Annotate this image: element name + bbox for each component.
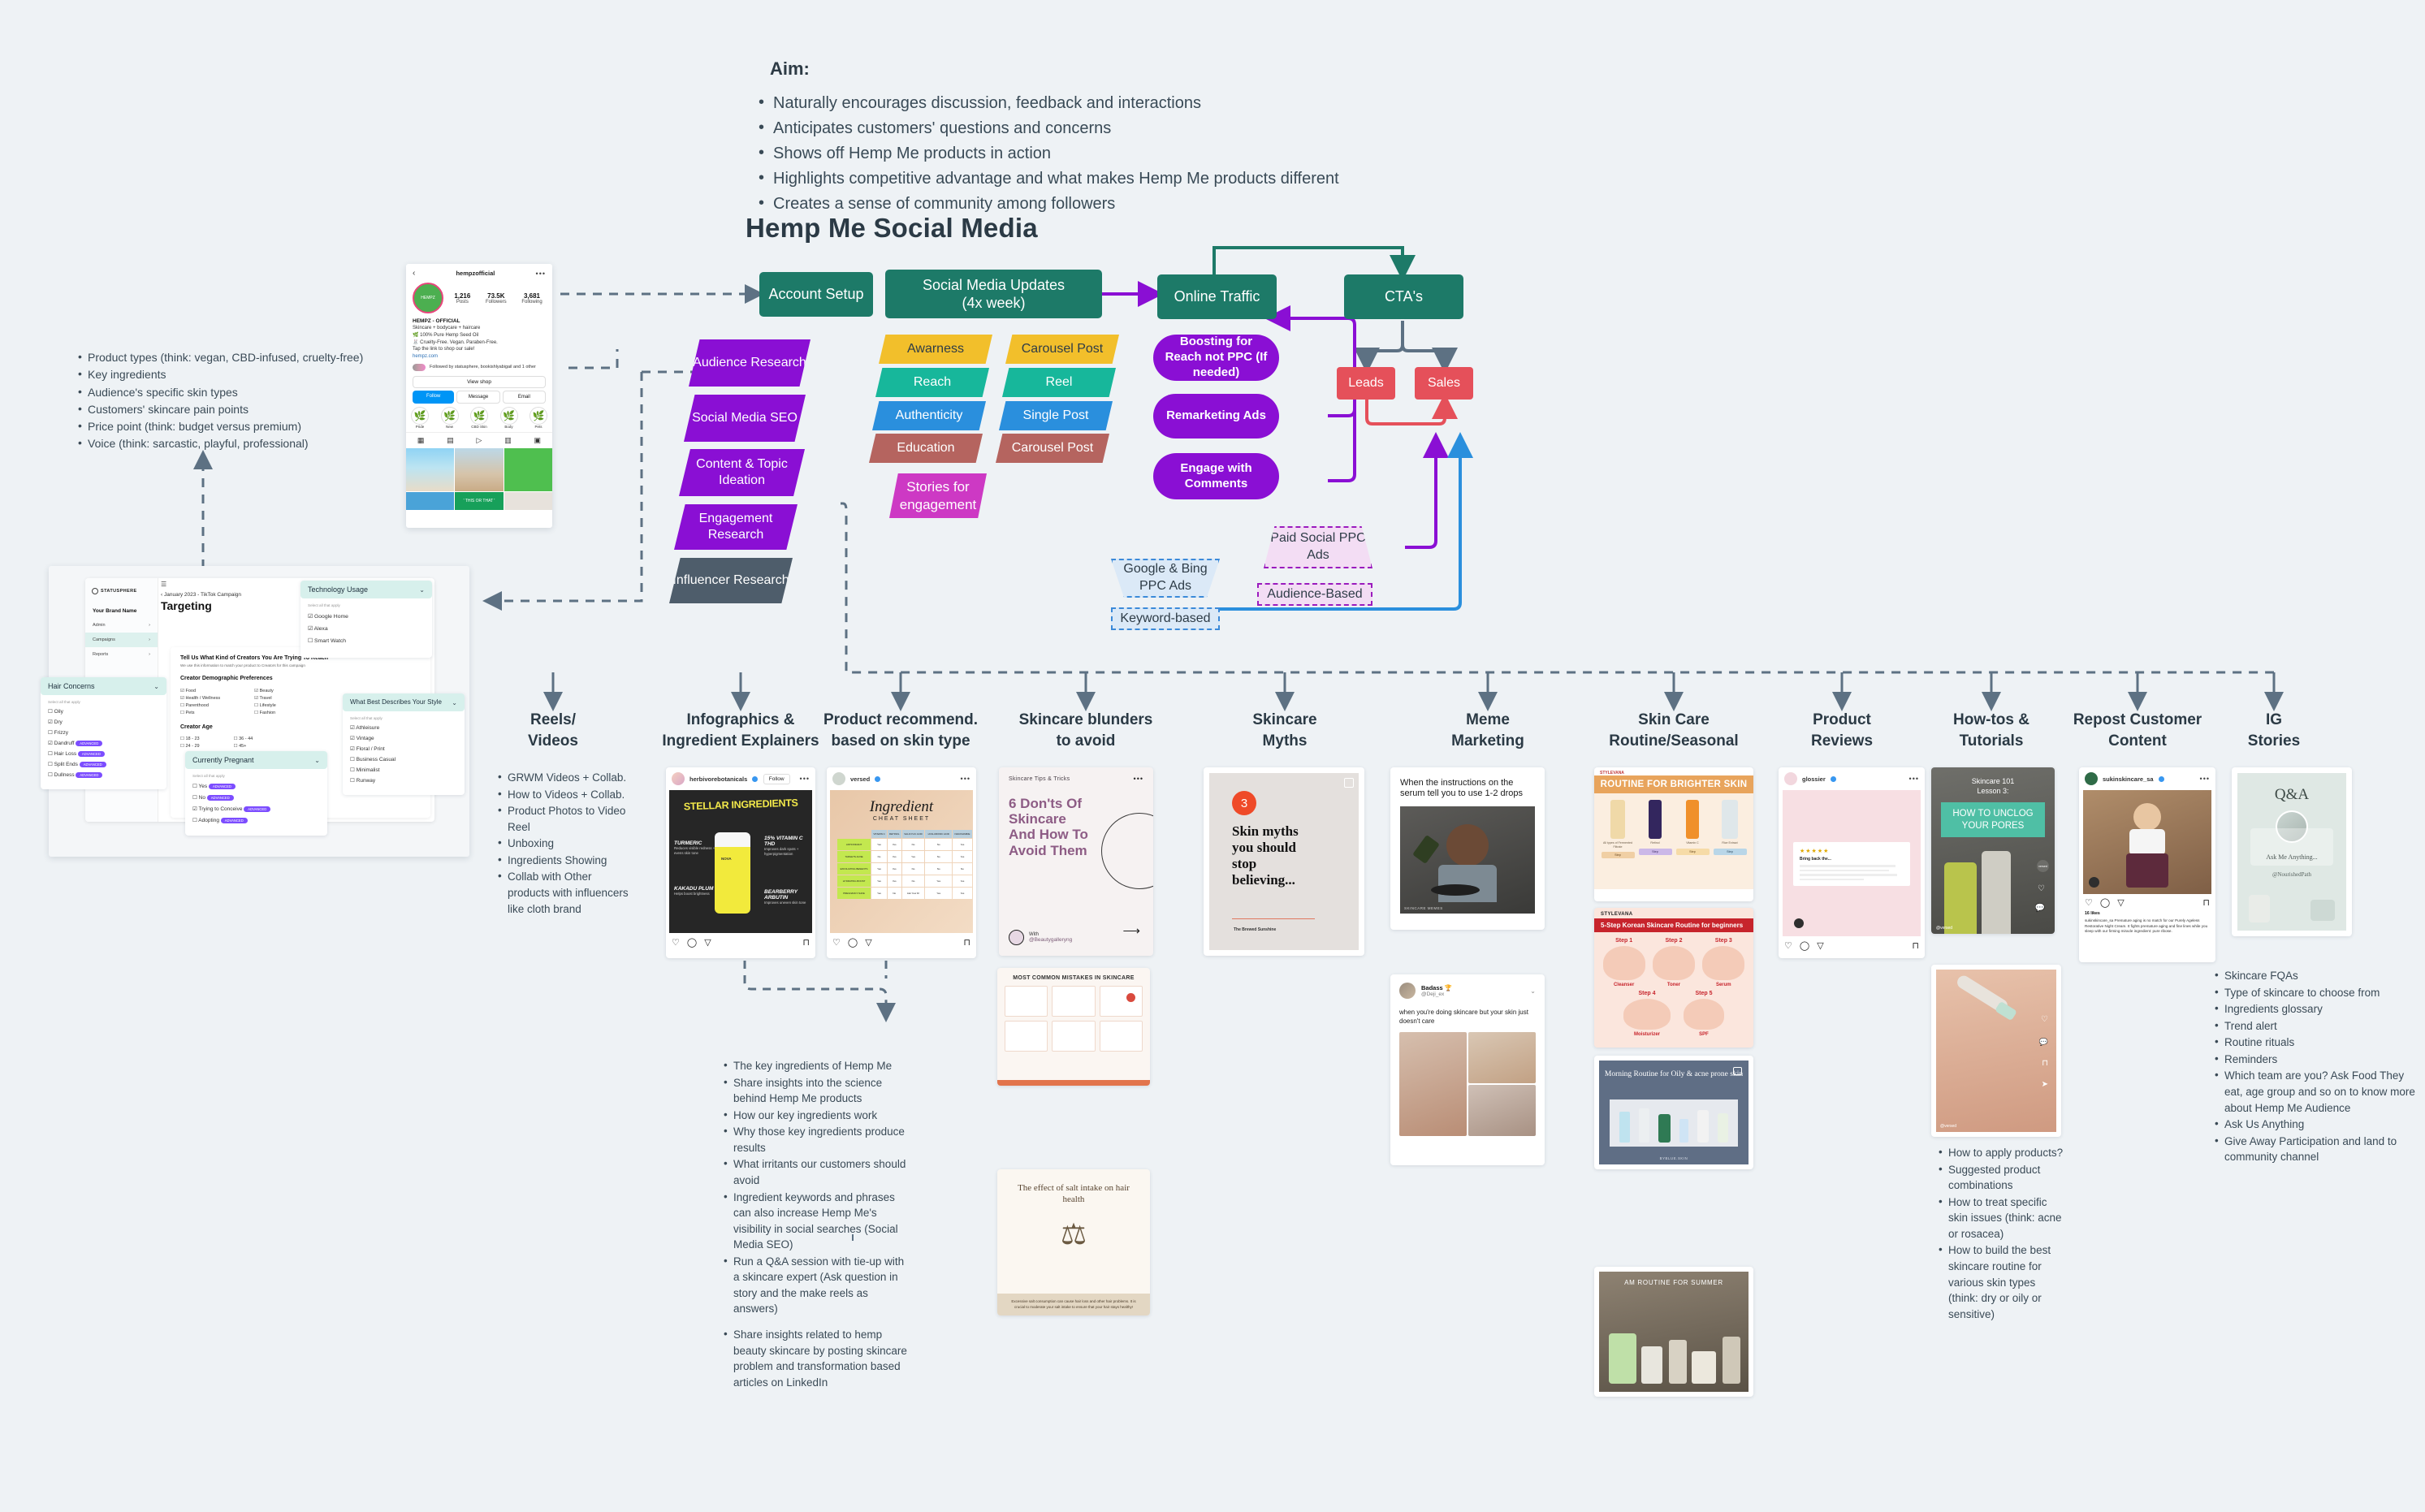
card-meme-tweet[interactable]: Badass 🏆 @Deji_ex ⌄ when you're doing sk… — [1390, 974, 1545, 1165]
tile — [1100, 1021, 1143, 1052]
story-prompt[interactable]: Ask Me Anything... — [2266, 853, 2317, 861]
dropdown-hair-concerns[interactable]: Hair Concerns ⌄ Select all that apply ☐ … — [41, 677, 166, 789]
account-name[interactable]: versed — [850, 775, 870, 783]
node-online-traffic[interactable]: Online Traffic — [1157, 274, 1277, 319]
option-vintage[interactable]: ☑ Vintage — [350, 735, 457, 741]
list-item: Give Away Participation and land to comm… — [2214, 1134, 2423, 1165]
more-options-icon[interactable]: ••• — [2200, 775, 2210, 783]
post-title: 5-Step Korean Skincare Routine for begin… — [1594, 918, 1753, 932]
sidebar-item-campaigns[interactable]: Campaigns› — [85, 633, 158, 647]
share-icon[interactable]: ▽ — [1817, 940, 1823, 951]
tagged-icon[interactable]: ▣ — [534, 436, 542, 445]
node-leads[interactable]: Leads — [1337, 367, 1395, 400]
list-item: Collab with Other products with influenc… — [497, 869, 631, 917]
chevron-down-icon[interactable]: ⌄ — [153, 683, 159, 690]
comment-icon[interactable]: ◯ — [848, 937, 858, 948]
section-subtitle: We use this information to match your pr… — [180, 663, 421, 667]
stat-followers: 73.5K Followers — [486, 292, 507, 305]
howto-bullet-list: How to apply products? Suggested product… — [1938, 1145, 2068, 1323]
post-image: Ingredient CHEAT SHEET VITAMIN C RETINOL… — [830, 790, 973, 933]
checkbox-parenthood[interactable]: ☐ Parenthood — [180, 703, 220, 708]
column-header-infographics: Infographics & Ingredient Explainers — [651, 710, 830, 751]
list-item: How our key ingredients work — [723, 1108, 908, 1124]
avatar — [672, 772, 685, 785]
column-header-meme-marketing: Meme Marketing — [1415, 710, 1561, 751]
tile — [1052, 1021, 1095, 1052]
avatar — [2085, 772, 2098, 785]
list-item: Voice (think: sarcastic, playful, profes… — [77, 435, 402, 451]
post-title: The effect of salt intake on hair health — [997, 1169, 1150, 1206]
card-morning-routine-oily[interactable]: Morning Routine for Oily & acne prone sk… — [1594, 1056, 1753, 1169]
review-headline: Bring back the... — [1800, 857, 1904, 862]
list-item: Audience's specific skin types — [77, 384, 402, 400]
card-common-mistakes[interactable]: MOST COMMON MISTAKES IN SKINCARE — [997, 968, 1150, 1086]
node-sales[interactable]: Sales — [1415, 367, 1473, 400]
verified-icon — [875, 776, 880, 782]
post-title: 6 Don'ts Of Skincare And How To Avoid Th… — [999, 783, 1103, 858]
more-options-icon[interactable]: ••• — [536, 270, 546, 278]
node-engage-with-comments[interactable]: Engage with Comments — [1153, 453, 1279, 499]
node-paid-social-ppc[interactable]: Paid Social PPC Ads — [1264, 526, 1372, 568]
like-icon[interactable]: ♡ — [1784, 940, 1792, 951]
option-split-ends[interactable]: ☐ Split Ends ADVANCED — [48, 761, 159, 767]
tag-authenticity[interactable]: Authenticity — [872, 401, 986, 430]
avatar — [1784, 772, 1797, 785]
option-smart-watch[interactable]: ☐ Smart Watch — [308, 637, 425, 644]
option-minimalist[interactable]: ☐ Minimalist — [350, 767, 457, 773]
column-header-how-tos: How-tos & Tutorials — [1918, 710, 2064, 751]
reels-bullet-list: GRWM Videos + Collab. How to Videos + Co… — [497, 770, 631, 918]
node-boosting-for-reach[interactable]: Boosting for Reach not PPC (If needed) — [1153, 335, 1279, 381]
post-title: Morning Routine for Oily & acne prone sk… — [1599, 1061, 1749, 1080]
node-engagement-research[interactable]: Engagement Research — [674, 504, 798, 550]
checkbox-health[interactable]: ☑ Health / Wellness — [180, 696, 220, 701]
node-keyword-based[interactable]: Keyword-based — [1111, 607, 1220, 630]
checkbox-fashion[interactable]: ☐ Fashion — [254, 711, 276, 715]
option-business-casual[interactable]: ☐ Business Casual — [350, 756, 457, 762]
option-floral-print[interactable]: ☑ Floral / Print — [350, 745, 457, 752]
option-dullness[interactable]: ☐ Dullness ADVANCED — [48, 771, 159, 778]
column-header-skincare-myths: Skincare Myths — [1212, 710, 1358, 751]
highlight-pets[interactable]: 🌿Pets — [530, 407, 547, 429]
list-item: Price point (think: budget versus premiu… — [77, 418, 402, 434]
tag-single-post[interactable]: Single Post — [999, 401, 1113, 430]
tag-carousel-post-2[interactable]: Carousel Post — [996, 434, 1109, 463]
column-header-repost-customer: Repost Customer Content — [2048, 710, 2227, 751]
tile — [1005, 986, 1048, 1017]
stories-bullet-list: Skincare FQAs Type of skincare to choose… — [2214, 968, 2423, 1166]
story-handle: @NourishedPath — [2237, 871, 2346, 878]
list-item: How to Videos + Collab. — [497, 787, 631, 803]
meme-image — [1468, 1085, 1536, 1136]
tweet-author: Badass 🏆 — [1421, 984, 1452, 991]
source: The Brewed Sunshine — [1234, 927, 1276, 932]
account-name[interactable]: glossier — [1802, 775, 1826, 783]
sidebar-item-admin[interactable]: Admin› — [85, 618, 158, 633]
list-item: Ingredient keywords and phrases can also… — [723, 1190, 908, 1253]
node-stories-for-engagement[interactable]: Stories for engagement — [889, 473, 987, 518]
node-account-setup[interactable]: Account Setup — [759, 272, 873, 317]
grid-tile[interactable] — [504, 448, 552, 491]
more-options-icon[interactable]: ••• — [1134, 775, 1143, 783]
option-dry[interactable]: ☑ Dry — [48, 719, 159, 725]
share-icon[interactable]: ▽ — [2117, 897, 2124, 908]
card-5-step-korean[interactable]: STYLEVANA 5-Step Korean Skincare Routine… — [1594, 908, 1753, 1048]
column-header-product-reviews: Product Reviews — [1769, 710, 1915, 751]
followed-by-text: Followed by statusphere, bookishlyabigai… — [430, 365, 536, 370]
dropdown-technology-usage[interactable]: Technology Usage ⌄ Select all that apply… — [300, 581, 432, 658]
node-audience-research[interactable]: Audience Research — [689, 339, 810, 387]
verified-icon — [2159, 776, 2164, 782]
reels-icon[interactable]: ▤ — [447, 436, 454, 445]
bio-link[interactable]: hempz.com — [413, 353, 546, 361]
checkbox-age-36-44[interactable]: ☐ 36 - 44 — [234, 737, 253, 741]
tag-awarness[interactable]: Awarness — [879, 335, 992, 364]
option-google-home[interactable]: ☑ Google Home — [308, 613, 425, 620]
list-item: Run a Q&A session with tie-up with a ski… — [723, 1254, 908, 1317]
node-ctas[interactable]: CTA's — [1344, 274, 1463, 319]
list-item: Ingredients Showing — [497, 853, 631, 869]
post-image: STELLAR INGREDIENTS NOVA TURMERIC Reduce… — [669, 790, 812, 933]
meme-image — [1399, 1032, 1467, 1136]
card-how-to-unclog[interactable]: Skincare 101 Lesson 3: HOW TO UNCLOG YOU… — [1931, 767, 2055, 934]
aim-bullet-list: Naturally encourages discussion, feedbac… — [755, 91, 1567, 217]
chevron-right-icon: › — [149, 623, 150, 628]
grid-tile[interactable] — [455, 448, 503, 491]
tag-reach[interactable]: Reach — [875, 368, 989, 397]
list-item: Type of skincare to choose from — [2214, 985, 2423, 1001]
option-oily[interactable]: ☐ Oily — [48, 708, 159, 715]
verified-icon — [1831, 776, 1836, 782]
list-item: How to apply products? — [1938, 1145, 2068, 1161]
like-icon[interactable]: ♡ — [2085, 897, 2093, 908]
list-item: Why those key ingredients produce result… — [723, 1124, 908, 1156]
guides-icon[interactable]: ▥ — [504, 436, 512, 445]
list-item: The key ingredients of Hemp Me — [723, 1058, 908, 1074]
column-header-skincare-blunders: Skincare blunders to avoid — [996, 710, 1175, 751]
follow-button[interactable]: Follow — [763, 774, 790, 784]
dropdown-style[interactable]: What Best Describes Your Style ⌄ Select … — [343, 693, 465, 795]
highlight-cbd-skin[interactable]: 🌿CBD Skin — [470, 407, 488, 429]
whiteboard-canvas: Aim: Naturally encourages discussion, fe… — [0, 0, 2425, 1512]
caption: sukinskincare_sa Premature aging is no m… — [2079, 916, 2215, 937]
chevron-down-icon[interactable]: ⌄ — [314, 757, 320, 764]
video-icon[interactable]: ▷ — [477, 436, 482, 445]
node-audience-based[interactable]: Audience-Based — [1257, 583, 1372, 606]
list-item: Customers' skincare pain points — [77, 401, 402, 417]
card-am-routine-summer[interactable]: AM ROUTINE FOR SUMMER — [1594, 1267, 1753, 1397]
save-icon[interactable]: ⊓ — [1912, 940, 1919, 951]
list-item: GRWM Videos + Collab. — [497, 770, 631, 786]
chevron-right-icon: › — [149, 637, 150, 642]
checkbox-travel[interactable]: ☑ Travel — [254, 696, 276, 701]
chevron-down-icon[interactable]: ⌄ — [1530, 987, 1536, 995]
card-qa-story[interactable]: Q&A Ask Me Anything... @NourishedPath — [2232, 767, 2352, 936]
list-item: Routine rituals — [2214, 1035, 2423, 1051]
tweet-text: when you're doing skincare but your skin… — [1390, 1003, 1545, 1032]
checkbox-age-24-29[interactable]: ☐ 24 - 29 — [180, 744, 200, 749]
aim-bullet: Naturally encourages discussion, feedbac… — [755, 91, 1567, 116]
card-salt-intake[interactable]: The effect of salt intake on hair health… — [997, 1169, 1150, 1315]
lesson: Lesson 3: — [1931, 786, 2055, 796]
column-header-skincare-routine: Skin Care Routine/Seasonal — [1580, 710, 1767, 751]
meme-image: SKINCARE MEMES — [1400, 806, 1535, 914]
more-options-icon[interactable]: ••• — [1909, 775, 1919, 783]
checkbox-beauty[interactable]: ☑ Beauty — [254, 689, 276, 693]
checkbox-age-18-23[interactable]: ☐ 18 - 23 — [180, 737, 200, 741]
grid-tile[interactable] — [504, 492, 552, 510]
aim-bullet: Highlights competitive advantage and wha… — [755, 166, 1567, 192]
list-item: Skincare FQAs — [2214, 968, 2423, 984]
option-athleisure[interactable]: ☑ Athleisure — [350, 724, 457, 731]
post-title: Skin myths you should stop believing... — [1232, 823, 1323, 888]
comment-icon[interactable]: ◯ — [687, 937, 697, 948]
option-dandruff[interactable]: ☑ Dandruff ADVANCED — [48, 740, 159, 746]
option-adopting[interactable]: ☐ Adopting ADVANCED — [192, 817, 320, 823]
post-title: AM ROUTINE FOR SUMMER — [1599, 1272, 1749, 1286]
demographics-title: Creator Demographic Preferences — [180, 676, 421, 681]
follow-button[interactable]: Follow — [413, 391, 454, 404]
list-item: Trend alert — [2214, 1018, 2423, 1035]
card-skin-myths[interactable]: 3 Skin myths you should stop believing..… — [1204, 767, 1364, 956]
tile — [1005, 1021, 1048, 1052]
share-icon[interactable]: ▽ — [704, 937, 711, 948]
eyebrow: Skincare Tips & Tricks — [1009, 776, 1070, 782]
tile — [1052, 986, 1095, 1017]
post-image — [2083, 790, 2211, 894]
sidebar-item-reports[interactable]: Reports› — [85, 647, 158, 662]
highlight-new[interactable]: 🌿New — [441, 407, 459, 429]
list-item: Product types (think: vegan, CBD-infused… — [77, 349, 402, 365]
grid-tile[interactable] — [406, 492, 454, 510]
statusphere-targeting-panel: STATUSPHERE Your Brand Name Admin› Campa… — [49, 566, 469, 857]
comment-icon[interactable]: ◯ — [2100, 897, 2110, 908]
card-routine-brighter-skin[interactable]: STYLEVANA ROUTINE FOR BRIGHTER SKIN All … — [1594, 767, 1753, 901]
dropdown-currently-pregnant[interactable]: Currently Pregnant ⌄ Select all that app… — [185, 751, 327, 836]
brand-name: Your Brand Name — [85, 604, 158, 618]
list-item: Share insights into the science behind H… — [723, 1075, 908, 1107]
chevron-right-icon: › — [149, 652, 150, 657]
chevron-down-icon[interactable]: ⌄ — [452, 699, 457, 706]
tag-education[interactable]: Education — [869, 434, 983, 463]
stat-following: 3,681 Following — [521, 292, 542, 305]
checkbox-lifestyle[interactable]: ☐ Lifestyle — [254, 703, 276, 708]
aim-bullet: Shows off Hemp Me products in action — [755, 141, 1567, 166]
card-applicator-video[interactable]: ♡ 💬 ⊓ ➤ @versed — [1931, 965, 2061, 1137]
card-repost-customer[interactable]: sukinskincare_sa ••• ♡ ◯ ▽ ⊓ 16 likes su… — [2079, 767, 2215, 962]
list-item: How to treat specific skin issues (think… — [1938, 1194, 2068, 1242]
avatar — [1009, 930, 1024, 945]
card-ingredient-cheat-sheet[interactable]: versed ••• Ingredient CHEAT SHEET VITAMI… — [827, 767, 976, 958]
view-shop-button[interactable]: View shop — [413, 376, 546, 388]
profile-handle: hempzofficial — [415, 270, 535, 277]
story-title: Q&A — [2237, 773, 2346, 804]
grid-icon[interactable]: ▦ — [417, 436, 425, 445]
save-icon[interactable]: ⊓ — [963, 937, 970, 948]
checkbox-age-45plus[interactable]: ☐ 45+ — [234, 744, 253, 749]
post-title: HOW TO UNCLOG YOUR PORES — [1941, 802, 2045, 837]
node-google-bing-ppc[interactable]: Google & Bing PPC Ads — [1111, 559, 1220, 598]
node-remarketing-ads[interactable]: Remarketing Ads — [1153, 394, 1279, 438]
ingredient-bullet-list: The key ingredients of Hemp Me Share ins… — [723, 1058, 908, 1391]
eyebrow: Skincare 101 — [1931, 776, 2055, 786]
node-content-topic-ideation[interactable]: Content & Topic Ideation — [679, 449, 805, 496]
like-icon[interactable]: ♡ — [672, 937, 680, 948]
account-name[interactable]: herbivorebotanicals — [689, 775, 747, 783]
arrow-right-icon[interactable]: ⟶ — [1122, 923, 1140, 938]
save-icon[interactable]: ⊓ — [2202, 897, 2210, 908]
post-title: MOST COMMON MISTAKES IN SKINCARE — [997, 968, 1150, 986]
node-social-media-seo[interactable]: Social Media SEO — [684, 395, 806, 442]
avatar: HEMPZ — [413, 283, 443, 313]
option-alexa[interactable]: ☑ Alexa — [308, 625, 425, 632]
meme-image — [1468, 1032, 1536, 1083]
rating: ★★★★★ — [1800, 848, 1904, 854]
chevron-down-icon[interactable]: ⌄ — [419, 586, 425, 594]
account-name[interactable]: sukinskincare_sa — [2103, 775, 2154, 783]
post-title: ROUTINE FOR BRIGHTER SKIN — [1594, 775, 1753, 793]
option-runway[interactable]: ☐ Runway — [350, 777, 457, 784]
message-button[interactable]: Message — [456, 391, 499, 404]
carousel-icon — [1344, 778, 1354, 788]
avatar — [832, 772, 845, 785]
aim-heading: Aim: — [770, 58, 810, 80]
list-item: Ingredients glossary — [2214, 1001, 2423, 1017]
highlight-body[interactable]: 🌿Body — [500, 407, 518, 429]
save-icon[interactable]: ⊓ — [802, 937, 810, 948]
list-item: Product Photos to Video Reel — [497, 803, 631, 835]
statusphere-logo-icon — [92, 588, 98, 594]
followed-by-avatars — [413, 364, 426, 371]
list-item: Which team are you? Ask Food They eat, a… — [2214, 1068, 2423, 1116]
card-6-donts[interactable]: Skincare Tips & Tricks ••• 6 Don'ts Of S… — [999, 767, 1153, 956]
avatar — [1399, 983, 1416, 999]
brand-attributes-list: Product types (think: vegan, CBD-infused… — [77, 349, 402, 453]
option-hair-loss[interactable]: ☐ Hair Loss ADVANCED — [48, 750, 159, 757]
logo-text: STATUSPHERE — [101, 589, 137, 594]
column-header-reels-videos: Reels/ Videos — [488, 710, 618, 751]
card-meme-serum[interactable]: When the instructions on the serum tell … — [1390, 767, 1545, 930]
column-header-product-recommend: Product recommend. based on skin type — [811, 710, 990, 751]
list-item: Ask Us Anything — [2214, 1117, 2423, 1133]
stat-posts: 1,216 Posts — [454, 292, 470, 305]
list-item: What irritants our customers should avoi… — [723, 1156, 908, 1188]
bio-name: HEMPZ - OFFICIAL — [413, 318, 546, 325]
checkbox-pets[interactable]: ☐ Pets — [180, 711, 220, 715]
list-item: Reminders — [2214, 1052, 2423, 1068]
card-product-review[interactable]: glossier ••• ★★★★★ Bring back the... ♡ ◯… — [1779, 767, 1925, 958]
tag-reel[interactable]: Reel — [1002, 368, 1116, 397]
instagram-profile-mockup: ‹ hempzofficial ••• HEMPZ 1,216 Posts 73… — [406, 264, 552, 528]
caption: Excessive salt consumption can cause hai… — [997, 1294, 1150, 1315]
tag-carousel-post-1[interactable]: Carousel Post — [1005, 335, 1119, 364]
step-number: 3 — [1232, 791, 1256, 815]
node-influencer-research[interactable]: Influencer Research — [669, 558, 793, 603]
list-item: Share insights related to hemp beauty sk… — [723, 1327, 908, 1390]
list-item: Unboxing — [497, 836, 631, 852]
grid-tile[interactable] — [406, 448, 454, 491]
email-button[interactable]: Email — [503, 391, 546, 404]
tweet-handle: @Deji_ex — [1421, 991, 1452, 997]
list-item: Suggested product combinations — [1938, 1162, 2068, 1194]
checkbox-food[interactable]: ☑ Food — [180, 689, 220, 693]
share-icon[interactable]: ▽ — [865, 937, 871, 948]
node-social-media-updates[interactable]: Social Media Updates (4x week) — [885, 270, 1102, 318]
carousel-icon — [1733, 1067, 1742, 1075]
highlight-pride[interactable]: 🌿Pride — [411, 407, 429, 429]
card-stellar-ingredients[interactable]: herbivorebotanicals Follow ••• STELLAR I… — [666, 767, 815, 958]
more-options-icon[interactable]: ••• — [800, 775, 810, 783]
list-item: How to build the best skincare routine f… — [1938, 1242, 2068, 1322]
meme-caption: When the instructions on the serum tell … — [1390, 767, 1545, 806]
profile-grid: ' THIS OR THAT ' — [406, 448, 552, 510]
option-trying-to-conceive[interactable]: ☑ Trying to Conceive ADVANCED — [192, 806, 320, 812]
option-pregnant-no[interactable]: ☐ No ADVANCED — [192, 794, 320, 801]
comment-icon[interactable]: ◯ — [1800, 940, 1809, 951]
page-title: Hemp Me Social Media — [746, 213, 1038, 244]
option-pregnant-yes[interactable]: ☐ Yes ADVANCED — [192, 783, 320, 789]
list-item: Key ingredients — [77, 366, 402, 382]
option-frizzy[interactable]: ☐ Frizzy — [48, 729, 159, 736]
column-header-ig-stories: IG Stories — [2209, 710, 2339, 751]
like-icon[interactable]: ♡ — [832, 937, 841, 948]
verified-icon — [752, 776, 758, 782]
more-options-icon[interactable]: ••• — [961, 775, 970, 783]
aim-bullet: Anticipates customers' questions and con… — [755, 116, 1567, 141]
